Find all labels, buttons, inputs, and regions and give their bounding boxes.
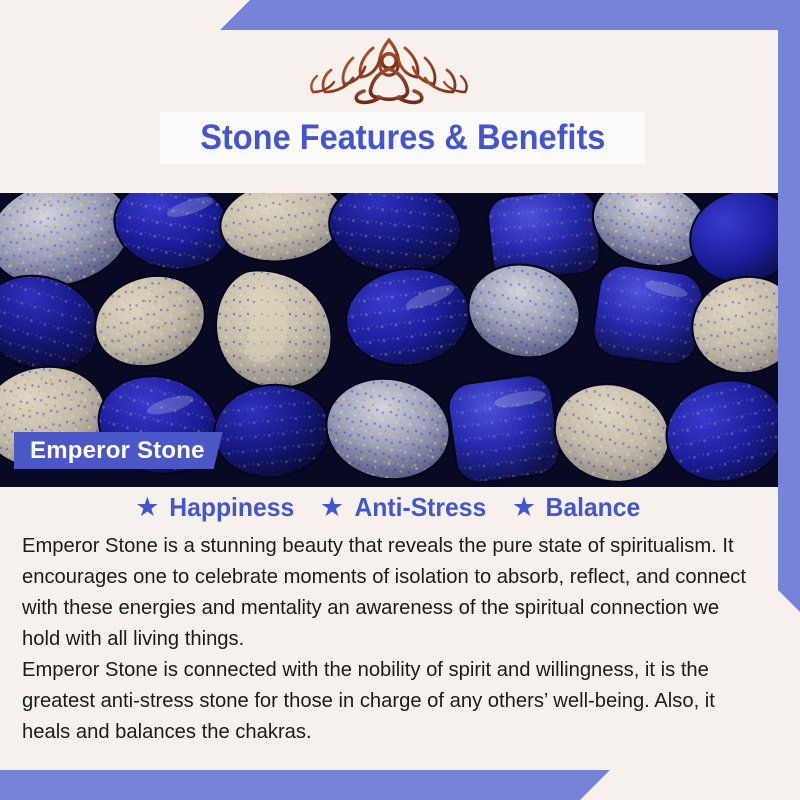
frame-accent-right [778,0,800,612]
star-icon: ★ [320,494,344,521]
description-paragraph: Emperor Stone is a stunning beauty that … [22,530,763,654]
benefit-item-happiness: ★ Happiness [135,492,298,523]
benefit-label: Happiness [170,492,295,523]
title-banner: Stone Features & Benefits [160,112,645,164]
lotus-meditation-figure-icon [301,34,477,110]
frame-accent-bottom [0,770,610,800]
star-icon: ★ [512,494,536,521]
stone-name-ribbon: Emperor Stone [14,432,223,469]
benefit-item-balance: ★ Balance [512,492,643,523]
stone-description: Emperor Stone is a stunning beauty that … [22,530,774,747]
benefit-label: Anti-Stress [355,492,487,523]
frame-accent-top [220,0,800,30]
description-paragraph: Emperor Stone is connected with the nobi… [22,654,763,747]
benefit-label: Balance [546,492,641,523]
stone-name-label: Emperor Stone [30,437,205,465]
product-info-poster: BUDDHA STONES [0,0,800,800]
benefit-item-anti-stress: ★ Anti-Stress [320,492,490,523]
page-title: Stone Features & Benefits [200,118,605,158]
star-icon: ★ [135,494,159,521]
benefits-row: ★ Happiness ★ Anti-Stress ★ Balance [0,492,778,523]
